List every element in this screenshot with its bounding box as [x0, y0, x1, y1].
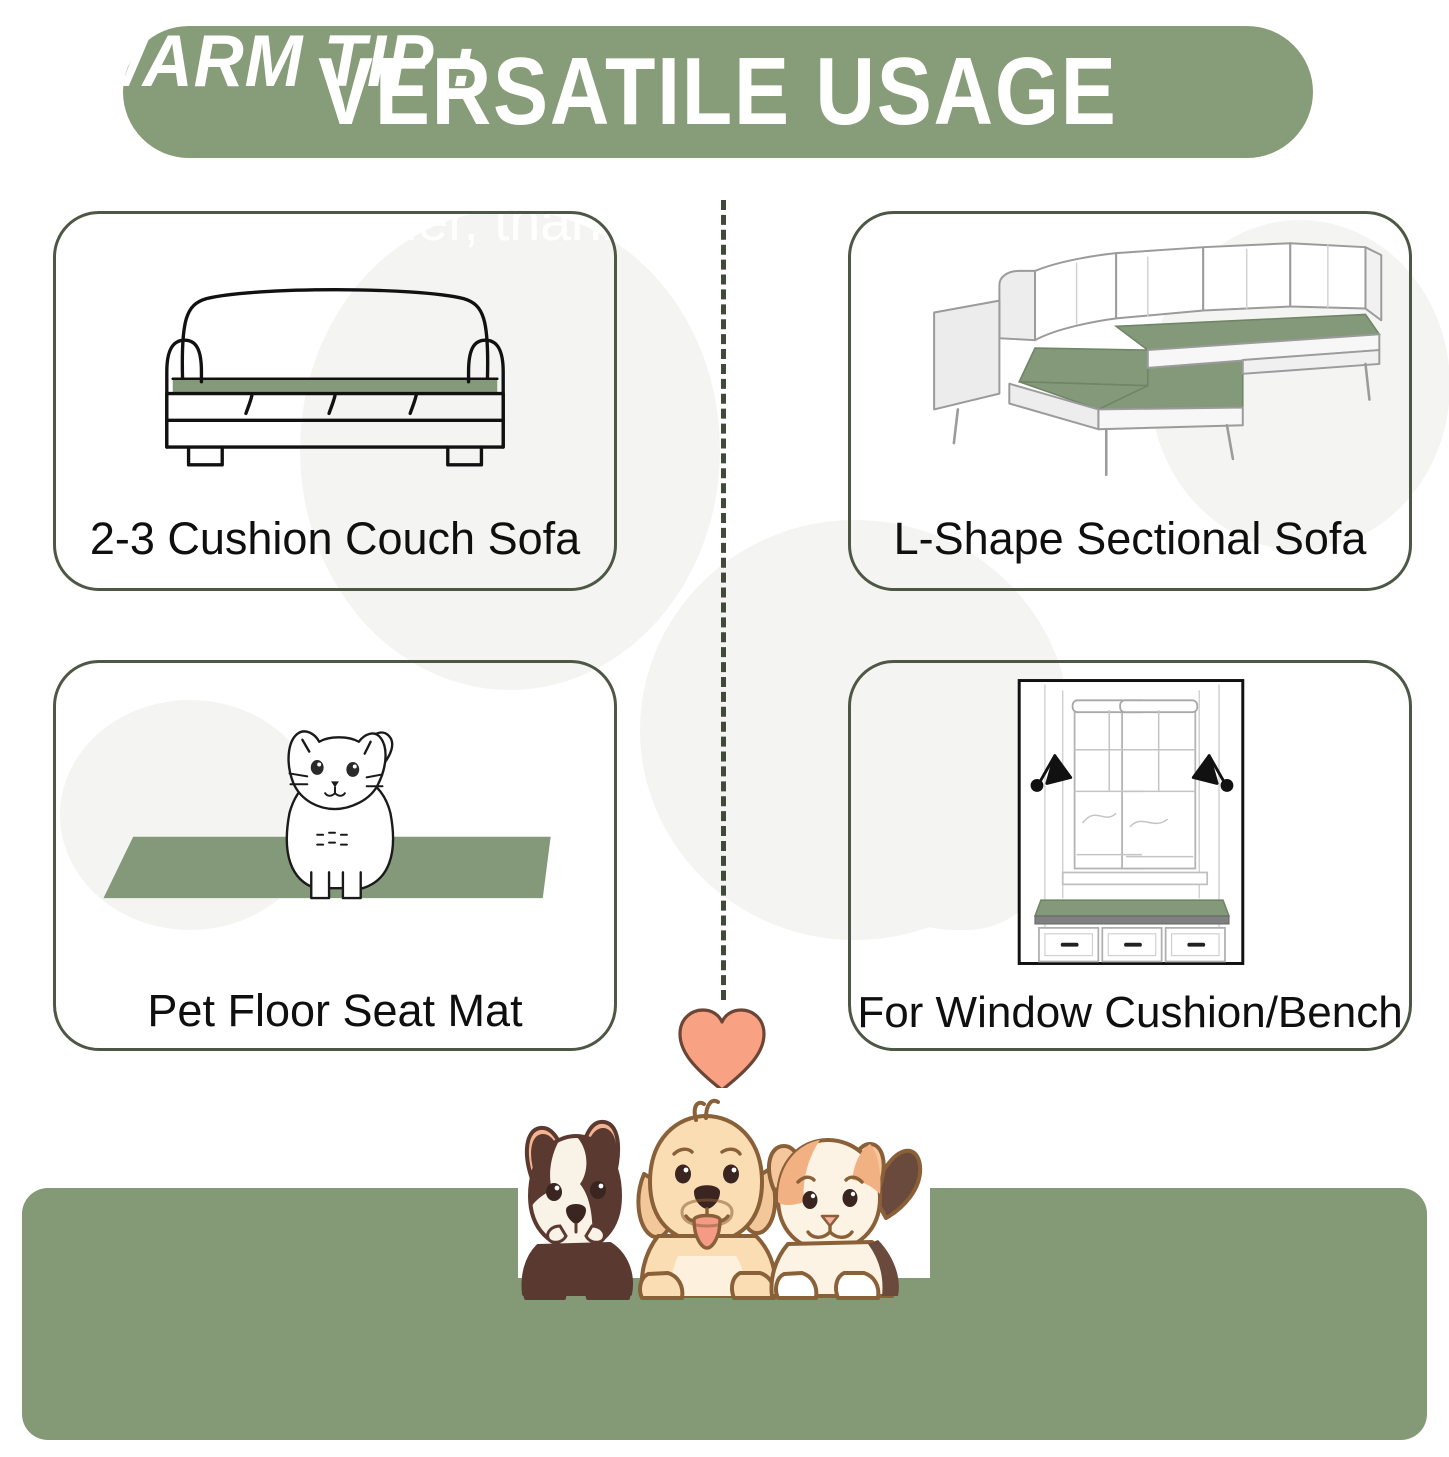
card-label-pet-mat: Pet Floor Seat Mat: [56, 987, 614, 1034]
card-label-sectional-sofa: L-Shape Sectional Sofa: [851, 515, 1409, 562]
cat-on-mat-icon: [56, 667, 614, 957]
window-bench-icon: [851, 673, 1409, 973]
sofa-front-icon: [56, 222, 614, 492]
usage-card-couch-sofa: 2-3 Cushion Couch Sofa: [53, 211, 617, 591]
usage-card-pet-mat: Pet Floor Seat Mat: [53, 660, 617, 1051]
warm-tip-heading: WARM TIP :: [80, 20, 476, 103]
card-label-window-bench: For Window Cushion/Bench: [851, 990, 1409, 1036]
card-label-couch-sofa: 2-3 Cushion Couch Sofa: [56, 515, 614, 562]
l-shape-sectional-icon: [851, 222, 1409, 492]
three-pets-icon: [492, 1078, 954, 1310]
vertical-dashed-divider: [721, 200, 726, 1000]
usage-card-sectional-sofa: L-Shape Sectional Sofa: [848, 211, 1412, 591]
usage-card-window-bench: For Window Cushion/Bench: [848, 660, 1412, 1051]
